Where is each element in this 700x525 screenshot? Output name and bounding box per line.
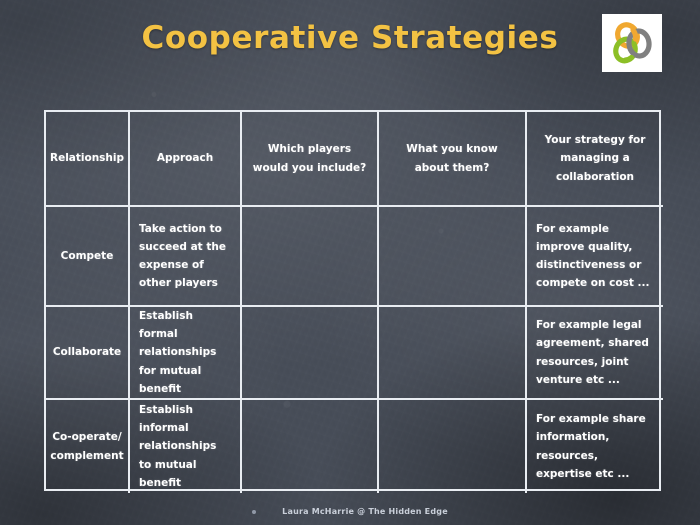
table-cell-what-you-know-compete[interactable]	[379, 207, 527, 307]
table-row: Establish informal relationships to mutu…	[130, 400, 242, 493]
table-header-relationship: Relationship	[46, 112, 130, 207]
table-row: For example share information, resources…	[527, 400, 663, 493]
table-cell-what-you-know-collaborate[interactable]	[379, 307, 527, 400]
table-cell-which-players-cooperate[interactable]	[242, 400, 379, 493]
slide-canvas: Cooperative Strategies Relationship Appr…	[0, 0, 700, 525]
table-cell-what-you-know-cooperate[interactable]	[379, 400, 527, 493]
table-header-your-strategy: Your strategy for managing a collaborati…	[527, 112, 663, 207]
bullet-icon	[252, 510, 256, 514]
hidden-edge-rings-logo	[602, 14, 662, 72]
table-header-what-you-know: What you know about them?	[379, 112, 527, 207]
table-header-approach: Approach	[130, 112, 242, 207]
footer-credit: Laura McHarrie @ The Hidden Edge	[282, 507, 448, 516]
table-row: Compete	[46, 207, 130, 307]
table-row: Collaborate	[46, 307, 130, 400]
table-cell-which-players-collaborate[interactable]	[242, 307, 379, 400]
table-header-which-players: Which players would you include?	[242, 112, 379, 207]
slide-footer: Laura McHarrie @ The Hidden Edge	[0, 507, 700, 516]
table-cell-which-players-compete[interactable]	[242, 207, 379, 307]
table-row: Co-operate/ complement	[46, 400, 130, 493]
table-row: Establish formal relationships for mutua…	[130, 307, 242, 400]
page-title: Cooperative Strategies	[0, 20, 700, 56]
table-row: Take action to succeed at the expense of…	[130, 207, 242, 307]
cooperative-strategies-table: Relationship Approach Which players woul…	[44, 110, 661, 491]
table-row: For example improve quality, distinctive…	[527, 207, 663, 307]
table-row: For example legal agreement, shared reso…	[527, 307, 663, 400]
interlocking-rings-icon	[609, 21, 655, 65]
